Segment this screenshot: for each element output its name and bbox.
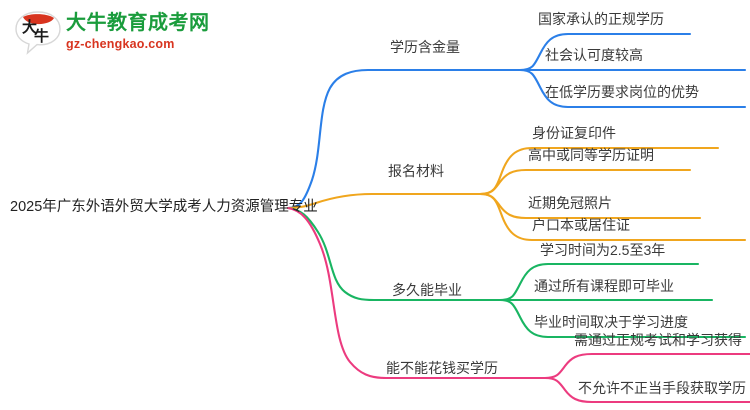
branch-2-lines [288, 148, 745, 240]
leaf-label-4-2[interactable]: 不允许不正当手段获取学历 [578, 381, 746, 395]
leaf-label-1-2[interactable]: 社会认可度较高 [545, 48, 643, 62]
leaf-label-2-4[interactable]: 户口本或居住证 [532, 218, 630, 232]
branch-label-4[interactable]: 能不能花钱买学历 [386, 361, 498, 375]
branch-label-3[interactable]: 多久能毕业 [392, 283, 462, 297]
leaf-label-3-3[interactable]: 毕业时间取决于学习进度 [534, 315, 688, 329]
leaf-label-2-2[interactable]: 高中或同等学历证明 [528, 148, 654, 162]
mindmap-canvas: 大 牛 大牛教育成考网 gz-chengkao.com [0, 0, 750, 410]
leaf-label-1-1[interactable]: 国家承认的正规学历 [538, 12, 664, 26]
leaf-label-2-1[interactable]: 身份证复印件 [532, 126, 616, 140]
branch-label-1[interactable]: 学历含金量 [390, 40, 460, 54]
root-node-label[interactable]: 2025年广东外语外贸大学成考人力资源管理专业 [10, 200, 318, 215]
leaf-label-3-2[interactable]: 通过所有课程即可毕业 [534, 279, 674, 293]
branch-1-lines [288, 34, 745, 208]
leaf-label-1-3[interactable]: 在低学历要求岗位的优势 [545, 85, 699, 99]
leaf-label-4-1[interactable]: 需通过正规考试和学习获得 [574, 333, 742, 347]
leaf-label-3-1[interactable]: 学习时间为2.5至3年 [540, 243, 665, 257]
leaf-label-2-3[interactable]: 近期免冠照片 [528, 196, 612, 210]
branch-label-2[interactable]: 报名材料 [388, 164, 444, 178]
